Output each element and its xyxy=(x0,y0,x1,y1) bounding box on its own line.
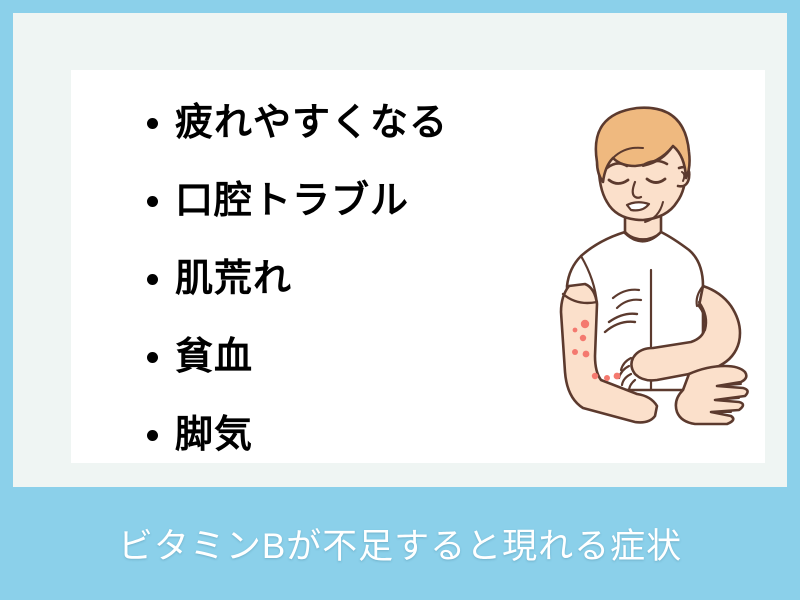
symptom-list: 疲れやすくなる 口腔トラブル 肌荒れ 貧血 脚気 xyxy=(147,84,507,474)
bullet-dot-icon xyxy=(147,196,158,207)
caption-text: ビタミンBが不足すると現れる症状 xyxy=(118,518,682,569)
list-item: 口腔トラブル xyxy=(147,162,507,240)
list-item: 疲れやすくなる xyxy=(147,84,507,162)
bullet-dot-icon xyxy=(147,352,158,363)
symptom-label: 肌荒れ xyxy=(175,260,292,298)
symptom-label: 疲れやすくなる xyxy=(175,104,448,142)
symptom-label: 貧血 xyxy=(175,338,253,376)
symptom-label: 口腔トラブル xyxy=(175,182,409,220)
bullet-dot-icon xyxy=(147,430,158,441)
list-item: 貧血 xyxy=(147,318,507,396)
list-item: 肌荒れ xyxy=(147,240,507,318)
list-item: 脚気 xyxy=(147,396,507,474)
caption-bar: ビタミンBが不足すると現れる症状 xyxy=(0,487,800,600)
white-content-card: 疲れやすくなる 口腔トラブル 肌荒れ 貧血 脚気 xyxy=(71,70,765,463)
poster-canvas: 疲れやすくなる 口腔トラブル 肌荒れ 貧血 脚気 xyxy=(0,0,800,600)
mint-inset-panel: 疲れやすくなる 口腔トラブル 肌荒れ 貧血 脚気 xyxy=(13,13,787,487)
man-scratching-arm-illustration xyxy=(539,90,769,430)
bullet-dot-icon xyxy=(147,274,158,285)
symptom-label: 脚気 xyxy=(175,416,253,454)
bullet-dot-icon xyxy=(147,118,158,129)
